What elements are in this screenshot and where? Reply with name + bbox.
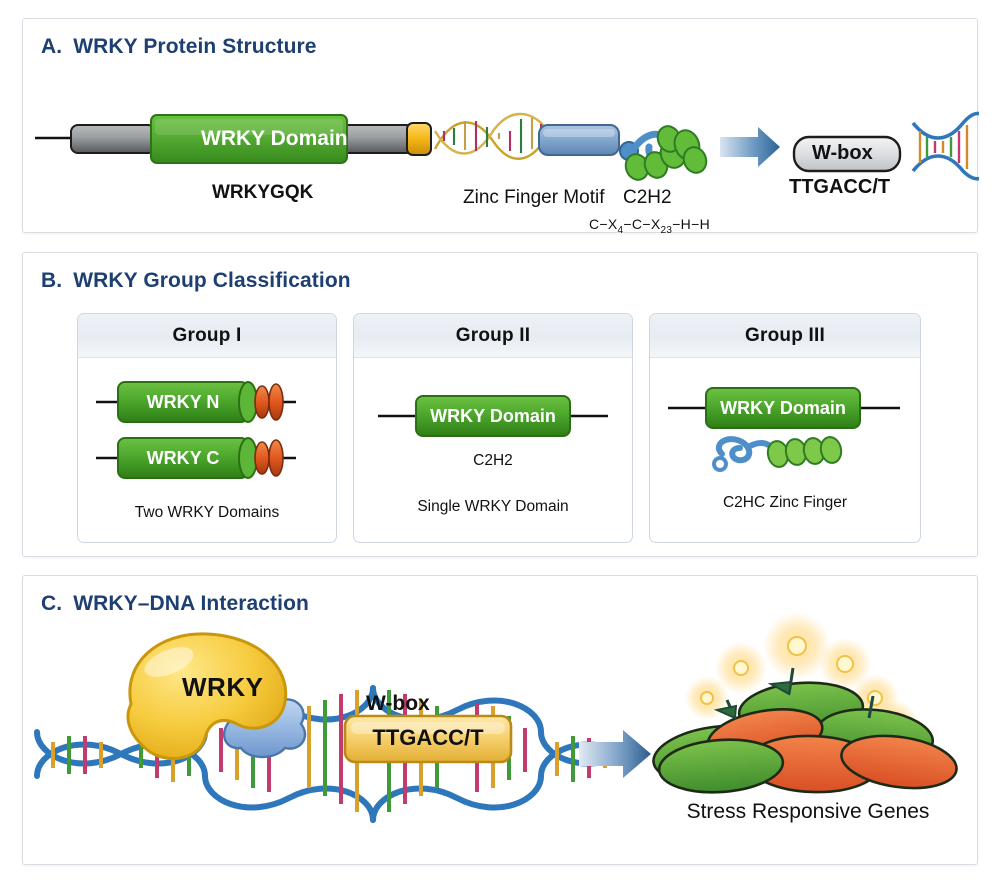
alpha-helix-icon xyxy=(714,435,843,470)
heptapeptide-label: WRKYGQK xyxy=(212,182,313,204)
zinc-cylinder-icon xyxy=(407,123,431,155)
zinc-finger-dna-icon xyxy=(435,114,545,159)
w-box-label: W-box xyxy=(812,142,873,165)
group-i-header: Group I xyxy=(78,314,336,358)
group-iii-title: Group III xyxy=(745,325,825,347)
group-ii-body: WRKY Domain C2H2 Single WRKY Domain xyxy=(354,358,632,543)
dna-helix-icon xyxy=(37,688,625,820)
dna-helix-icon xyxy=(913,114,979,179)
c2h2-label: C2H2 xyxy=(623,187,672,209)
panel-b-letter: B. xyxy=(41,269,62,293)
group-i-title: Group I xyxy=(173,325,242,347)
arrow-right-icon xyxy=(720,127,780,167)
group-ii-title: Group II xyxy=(456,325,530,347)
group-iii-domain-label: WRKY Domain xyxy=(706,398,860,419)
alpha-helix-icon xyxy=(620,123,710,183)
wrky-domain-box-label: WRKY Domain xyxy=(201,127,348,151)
panel-b-heading: WRKY Group Classification xyxy=(73,269,350,292)
group-ii-sub-caption: C2H2 xyxy=(354,452,632,470)
group-i-domain-label-c: WRKY C xyxy=(78,448,288,469)
group-iii-body: WRKY Domain C2HC Zinc Finger xyxy=(650,358,920,543)
blue-cylinder-icon xyxy=(539,125,619,155)
group-iii-caption: C2HC Zinc Finger xyxy=(650,494,920,512)
group-i-domain-label-n: WRKY N xyxy=(78,392,288,413)
stress-responsive-genes-label: Stress Responsive Genes xyxy=(683,800,933,824)
group-i-caption: Two WRKY Domains xyxy=(78,504,336,522)
group-ii-header: Group II xyxy=(354,314,632,358)
group-box-ii: Group II WRKY Domain C2H2 Single WRKY Do… xyxy=(353,313,633,543)
group-box-i: Group I xyxy=(77,313,337,543)
panel-wrky-protein-structure: A.WRKY Protein Structure xyxy=(22,18,978,233)
group-ii-caption: Single WRKY Domain xyxy=(354,498,632,516)
panel-b-title: B.WRKY Group Classification xyxy=(41,269,351,293)
panel-wrky-group-classification: B.WRKY Group Classification Group I xyxy=(22,252,978,557)
group-iii-header: Group III xyxy=(650,314,920,358)
c2h2-consensus-label: C−X4−C−X23−H−H xyxy=(589,216,710,236)
panel-wrky-dna-interaction: C.WRKY–DNA Interaction xyxy=(22,575,978,865)
wrky-protein-label: WRKY xyxy=(182,672,263,703)
group-i-body: WRKY N WRKY C Two WRKY Domains xyxy=(78,358,336,543)
zinc-finger-motif-label: Zinc Finger Motif xyxy=(463,187,604,209)
panel-c-w-box-label: W-box xyxy=(366,692,430,716)
group-box-iii: Group III xyxy=(649,313,921,543)
group-ii-domain-label: WRKY Domain xyxy=(416,406,570,427)
w-box-sequence-label: TTGACC/T xyxy=(789,176,890,199)
panel-c-w-box-sequence: TTGACC/T xyxy=(345,725,511,751)
